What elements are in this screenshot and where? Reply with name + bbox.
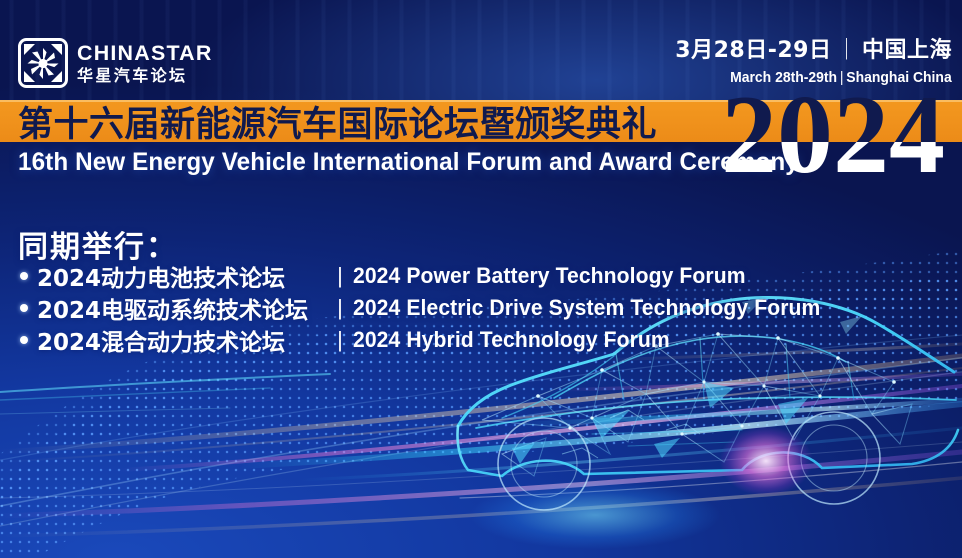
bullet-icon — [20, 272, 28, 280]
forum-separator: | — [327, 263, 353, 289]
event-banner: CHINASTAR 华星汽车论坛 3月28日-29日｜中国上海 March 28… — [0, 0, 962, 558]
page-title-cn: 第十六届新能源汽车国际论坛暨颁奖典礼 — [18, 100, 657, 142]
list-item[interactable]: 2024动力电池技术论坛 | 2024 Power Battery Techno… — [20, 262, 840, 290]
forum-title-cn: 2024电驱动系统技术论坛 — [37, 291, 327, 325]
forum-title-cn: 2024动力电池技术论坛 — [37, 259, 327, 293]
forum-title-en: 2024 Hybrid Technology Forum — [353, 327, 670, 353]
forum-title-en: 2024 Power Battery Technology Forum — [353, 263, 746, 289]
concurrent-forum-list: 2024动力电池技术论坛 | 2024 Power Battery Techno… — [20, 262, 840, 354]
page-title-en: 16th New Energy Vehicle International Fo… — [18, 142, 799, 182]
bullet-icon — [20, 304, 28, 312]
forum-title-cn: 2024混合动力技术论坛 — [37, 323, 327, 357]
list-item[interactable]: 2024电驱动系统技术论坛 | 2024 Electric Drive Syst… — [20, 294, 840, 322]
list-item[interactable]: 2024混合动力技术论坛 | 2024 Hybrid Technology Fo… — [20, 326, 840, 354]
forum-separator: | — [327, 327, 353, 353]
bullet-icon — [20, 336, 28, 344]
forum-separator: | — [327, 295, 353, 321]
forum-title-en: 2024 Electric Drive System Technology Fo… — [353, 295, 820, 321]
